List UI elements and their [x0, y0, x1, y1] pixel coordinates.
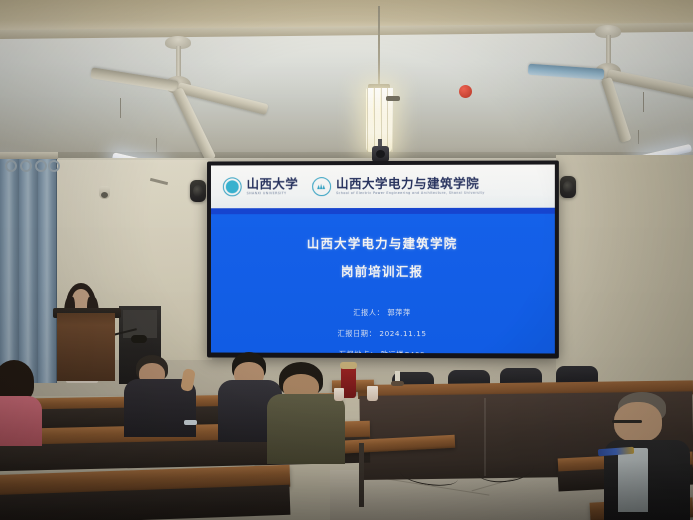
- table-item-base: [391, 381, 404, 386]
- paper-cup: [367, 386, 378, 401]
- projection-screen[interactable]: 山西大学 SHANXI UNIVERSITY 山西大学电力与建筑学院 Schoo…: [207, 160, 559, 358]
- logo-secondary-cn: 山西大学电力与建筑学院: [336, 178, 485, 191]
- ceiling-surface: [0, 30, 693, 160]
- slide-subtitle: 岗前培训汇报: [341, 261, 423, 280]
- wall-speaker-right: [560, 176, 576, 198]
- tube-light-wire: [156, 138, 157, 152]
- slide-header-band: 山西大学 SHANXI UNIVERSITY 山西大学电力与建筑学院 Schoo…: [211, 164, 555, 208]
- slide-title: 山西大学电力与建筑学院: [307, 233, 458, 252]
- av-rack-panel: [123, 310, 157, 338]
- ceiling-small-fixture: [386, 96, 400, 101]
- window-curtain: [0, 158, 57, 383]
- smoke-detector-icon: [459, 85, 472, 98]
- meta-label-location: 汇报地点：: [339, 350, 378, 354]
- lecture-hall-photo: 山西大学 SHANXI UNIVERSITY 山西大学电力与建筑学院 Schoo…: [0, 0, 693, 520]
- audience-body: [0, 396, 42, 446]
- logo-secondary: 山西大学电力与建筑学院 School of Electric Power Eng…: [312, 177, 484, 196]
- meta-label-presenter: 汇报人：: [353, 308, 384, 317]
- curtain-ring: [20, 160, 32, 172]
- slide-meta-row: 汇报人：郭萍萍: [211, 308, 555, 319]
- tube-light-wire: [643, 92, 644, 112]
- slide-meta-row: 汇报日期：2024.11.15: [211, 329, 555, 340]
- tube-light-wire: [120, 98, 121, 118]
- thermos-lid: [340, 362, 357, 369]
- curtain-rail: [0, 152, 58, 159]
- security-camera-icon: [99, 186, 110, 199]
- meta-label-date: 汇报日期：: [338, 329, 377, 338]
- slide-meta-row: 汇报地点：致远楼C409: [211, 350, 555, 354]
- eyeglasses-icon: [612, 420, 642, 423]
- room-camera-icon: [372, 146, 389, 162]
- desk-paper: [184, 420, 197, 425]
- slide-surface: 山西大学 SHANXI UNIVERSITY 山西大学电力与建筑学院 Schoo…: [211, 164, 555, 353]
- logo-primary: 山西大学 SHANXI UNIVERSITY: [223, 177, 298, 196]
- tube-light-wire: [638, 130, 639, 144]
- fan-rod: [606, 35, 611, 65]
- curtain-ring: [48, 160, 60, 172]
- paper-cup: [334, 388, 344, 401]
- logo-primary-cn: 山西大学: [247, 178, 299, 191]
- slide-meta-list: 汇报人：郭萍萍 汇报日期：2024.11.15 汇报地点：致远楼C409: [211, 308, 555, 354]
- fan-rod: [176, 46, 181, 78]
- shanxi-university-seal-icon: [223, 177, 242, 196]
- desk-leg: [359, 443, 364, 507]
- meta-value-presenter: 郭萍萍: [387, 308, 410, 317]
- pendant-light-wire: [378, 6, 380, 90]
- right-wall: [556, 155, 693, 395]
- meta-value-date: 2024.11.15: [379, 329, 426, 338]
- podium: [57, 313, 115, 381]
- wall-speaker-left: [190, 180, 206, 202]
- curtain-ring: [5, 160, 17, 172]
- logo-primary-en: SHANXI UNIVERSITY: [247, 192, 299, 195]
- meta-value-location: 致远楼C409: [381, 350, 426, 354]
- audience-body: [267, 394, 345, 464]
- college-seal-icon: [312, 177, 331, 196]
- logo-secondary-en: School of Electric Power Engineering and…: [336, 192, 485, 195]
- av-rack-knob: [131, 335, 147, 343]
- curtain-ring: [35, 160, 47, 172]
- audience-shirt: [618, 448, 648, 512]
- slide-body: 山西大学电力与建筑学院 岗前培训汇报 汇报人：郭萍萍 汇报日期：2024.11.…: [211, 214, 555, 354]
